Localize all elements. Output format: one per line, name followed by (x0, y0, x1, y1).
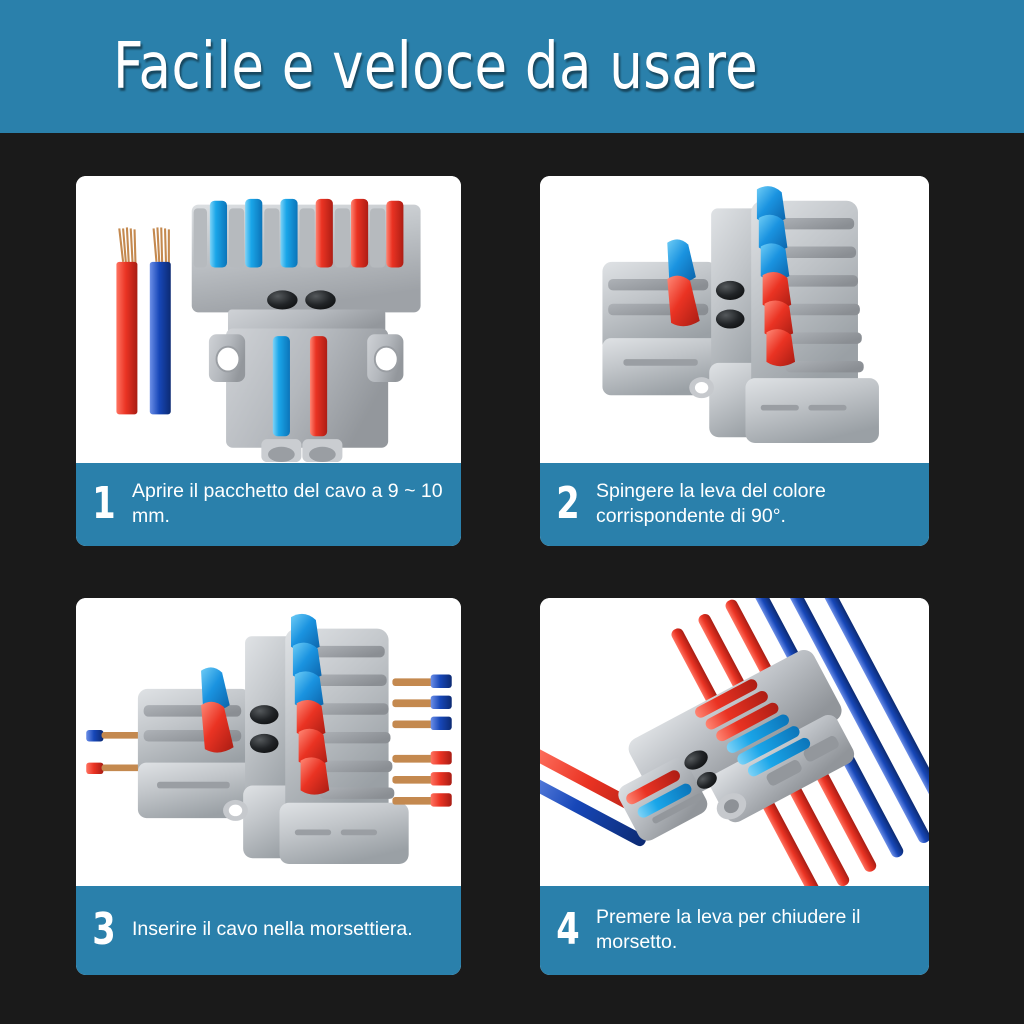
screw-hole-1 (267, 290, 298, 309)
connector-left-half (602, 262, 726, 395)
step-4-number: 4 (544, 908, 592, 952)
step-3-text: Inserire il cavo nella morsettiera. (132, 917, 423, 942)
lever-blue-left (667, 239, 696, 282)
step-4-caption: 4 Premere la leva per chiudere il morset… (540, 886, 929, 975)
step-1-caption: 1 Aprire il pacchetto del cavo a 9 ~ 10 … (76, 463, 461, 546)
step-card-3: 3 Inserire il cavo nella morsettiera. (76, 598, 461, 975)
screw-hole-1 (716, 281, 745, 300)
steps-grid: 1 Aprire il pacchetto del cavo a 9 ~ 10 … (0, 133, 1024, 1024)
step-1-photo (76, 176, 461, 463)
connector-illustration-levers-raised (540, 176, 929, 463)
step-card-4: 4 Premere la leva per chiudere il morset… (540, 598, 929, 975)
step-2-text: Spingere la leva del colore corrisponden… (596, 479, 929, 529)
step-2-caption: 2 Spingere la leva del colore corrispond… (540, 463, 929, 546)
screw-hole-2 (716, 309, 745, 328)
connector-illustration-open-top (76, 176, 461, 463)
stripped-wire-red (116, 227, 137, 414)
header-banner: Facile e veloce da usare (0, 0, 1024, 133)
incoming-wires-left (86, 730, 141, 774)
step-3-number: 3 (80, 908, 128, 952)
step-3-caption: 3 Inserire il cavo nella morsettiera. (76, 886, 461, 975)
connector-illustration-closed (540, 598, 929, 886)
step-1-number: 1 (80, 482, 128, 526)
promo-page: Facile e veloce da usare (0, 0, 1024, 1024)
step-card-1: 1 Aprire il pacchetto del cavo a 9 ~ 10 … (76, 176, 461, 546)
incoming-wires-right (392, 675, 451, 807)
step-4-text: Premere la leva per chiudere il morsetto… (596, 905, 929, 955)
stripped-wire-blue (150, 227, 171, 414)
step-4-photo (540, 598, 929, 886)
screw-hole-2 (305, 290, 336, 309)
step-2-number: 2 (544, 482, 592, 526)
step-3-photo (76, 598, 461, 886)
page-title: Facile e veloce da usare (113, 35, 758, 99)
step-card-2: 2 Spingere la leva del colore corrispond… (540, 176, 929, 546)
step-2-photo (540, 176, 929, 463)
connector-illustration-inserting-wires (76, 598, 461, 886)
step-1-text: Aprire il pacchetto del cavo a 9 ~ 10 mm… (132, 479, 461, 529)
